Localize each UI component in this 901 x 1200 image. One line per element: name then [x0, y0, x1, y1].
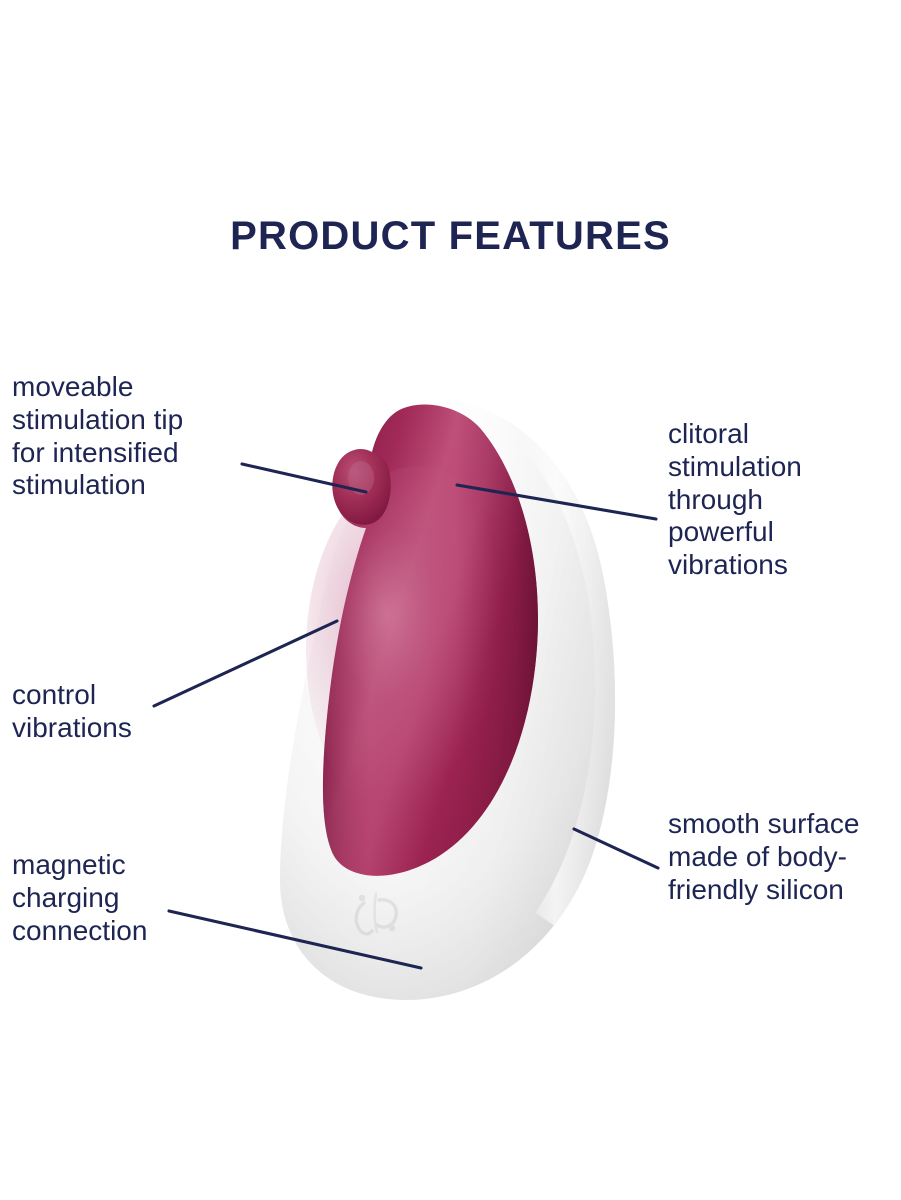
callout-smooth-surface: smooth surface made of body- friendly si…: [668, 808, 901, 906]
product-features-page: PRODUCT FEATURES: [0, 0, 901, 1200]
callout-magnetic-charging-connection: magnetic charging connection: [12, 849, 262, 947]
callout-clitoral-stimulation: clitoral stimulation through powerful vi…: [668, 418, 900, 582]
callout-control-vibrations: control vibrations: [12, 679, 262, 745]
callout-moveable-stimulation-tip: moveable stimulation tip for intensified…: [12, 371, 262, 502]
product-illustration: [0, 0, 901, 1200]
